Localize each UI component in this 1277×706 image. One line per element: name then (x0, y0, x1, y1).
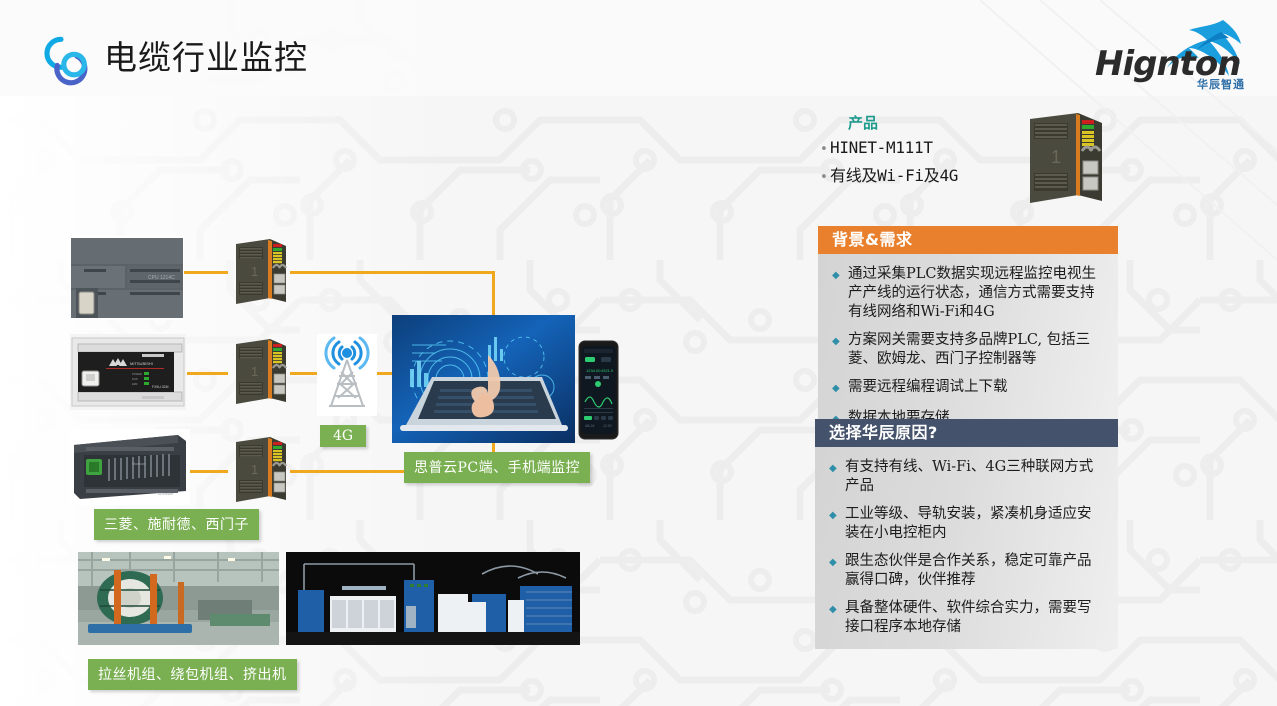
panel-body-background: ◆ 通过采集PLC数据实现远程监控电视生产产线的运行状态，通信方式需要支持有线网… (818, 254, 1118, 443)
page-title: 电缆行业监控 (104, 35, 308, 81)
svg-text:AB-2#: AB-2# (585, 424, 595, 428)
bullet-item: ◆ 方案网关需要支持多品牌PLC, 包括三菱、欧姆龙、西门子控制器等 (832, 331, 1102, 369)
svg-text:schneider: schneider (158, 492, 174, 496)
caption-machines: 拉丝机组、绕包机组、挤出机 (88, 659, 297, 690)
laptop-dashboard-photo: 26 (392, 315, 575, 443)
panel-title-background: 背景&需求 (818, 226, 1118, 254)
mitsubishi-plc-image: MITSUBISHI POWERRUNERR FX5U-32M (70, 334, 186, 410)
hinet-m111t-gateway-image: 1 (1018, 111, 1108, 211)
diamond-bullet-icon: ◆ (829, 458, 845, 496)
svg-text:1: 1 (1051, 147, 1061, 167)
wire-gateway2-tower (290, 372, 318, 375)
svg-text:RUN: RUN (132, 377, 138, 381)
brand-chinese-name: 华辰智通 (1197, 76, 1245, 92)
bullet-dot-icon: • (820, 170, 830, 185)
bullet-item: ◆ 具备整体硬件、软件综合实力，需要写接口程序本地存储 (829, 599, 1102, 637)
siemens-plc-image: CPU 1214C (70, 236, 184, 320)
svg-text:1: 1 (251, 364, 258, 379)
extrusion-line-photo (286, 552, 580, 645)
diamond-bullet-icon: ◆ (832, 331, 848, 369)
brand-logo: Hignton 华辰智通 (1071, 14, 1261, 96)
svg-text:FX5U-32M: FX5U-32M (152, 385, 169, 389)
diamond-bullet-icon: ◆ (832, 378, 848, 400)
svg-text:ERR: ERR (132, 382, 138, 386)
wire-plc3-gateway (190, 470, 228, 473)
wire-plc1-gateway (184, 271, 228, 274)
slide-canvas: 电缆行业监控 Hignton 华辰智通 产品 •HINET-M111T •有线及… (0, 0, 1277, 706)
gateway-device-top: 1 (228, 238, 292, 308)
diamond-bullet-icon: ◆ (829, 552, 845, 590)
bullet-item: ◆ 有支持有线、Wi-Fi、4G三种联网方式产品 (829, 458, 1102, 496)
svg-text:1234.00: 1234.00 (586, 368, 601, 373)
svg-text:1: 1 (251, 264, 258, 279)
bullet-item: ◆ 需要远程编程调试上下载 (832, 378, 1102, 400)
cell-tower-icon (317, 334, 377, 416)
panel-why-huachen: 选择华辰原因? ◆ 有支持有线、Wi-Fi、4G三种联网方式产品 ◆ 工业等级、… (815, 419, 1118, 649)
caption-plc-brands: 三菱、施耐德、西门子 (94, 509, 259, 540)
wire-gateway1-bus (290, 271, 495, 274)
panel-background-requirements: 背景&需求 ◆ 通过采集PLC数据实现远程监控电视生产产线的运行状态，通信方式需… (818, 226, 1118, 443)
bullet-dot-icon: • (820, 142, 830, 157)
caption-cloud-monitoring: 思普云PC端、手机端监控 (404, 452, 590, 483)
svg-text:Modicon: Modicon (132, 462, 146, 466)
gateway-device-middle: 1 (228, 338, 292, 408)
diamond-bullet-icon: ◆ (829, 599, 845, 637)
svg-text:12.00: 12.00 (603, 424, 612, 428)
svg-text:1: 1 (251, 462, 258, 477)
bullet-item: ◆ 工业等级、导轨安装，紧凑机身适应安装在小电控柜内 (829, 505, 1102, 543)
svg-text:MITSUBISHI: MITSUBISHI (130, 361, 153, 366)
gateway-device-bottom: 1 (228, 436, 292, 506)
wire-tower-cloud (375, 372, 392, 375)
schneider-plc-image: Modicon schneider (70, 429, 190, 505)
panel-body-why: ◆ 有支持有线、Wi-Fi、4G三种联网方式产品 ◆ 工业等级、导轨安装，紧凑机… (815, 447, 1118, 649)
svg-text:CPU 1214C: CPU 1214C (148, 275, 175, 281)
diamond-bullet-icon: ◆ (829, 505, 845, 543)
cable-winding-factory-photo (78, 552, 279, 645)
caption-network-4g: 4G (320, 425, 366, 447)
panel-title-why: 选择华辰原因? (815, 419, 1118, 447)
wire-plc2-gateway (187, 372, 228, 375)
cloud-loop-logo-icon (33, 30, 89, 86)
bullet-item: ◆ 通过采集PLC数据实现远程监控电视生产产线的运行状态，通信方式需要支持有线网… (832, 265, 1102, 322)
svg-text:POWER: POWER (132, 372, 142, 376)
diamond-bullet-icon: ◆ (832, 265, 848, 322)
bullet-item: ◆ 跟生态伙伴是合作关系，稳定可靠产品赢得口碑，伙伴推荐 (829, 552, 1102, 590)
svg-text:4321.0: 4321.0 (601, 368, 614, 373)
mobile-app-photo: 1234.004321.0 AB-2#12.00 (578, 340, 619, 440)
